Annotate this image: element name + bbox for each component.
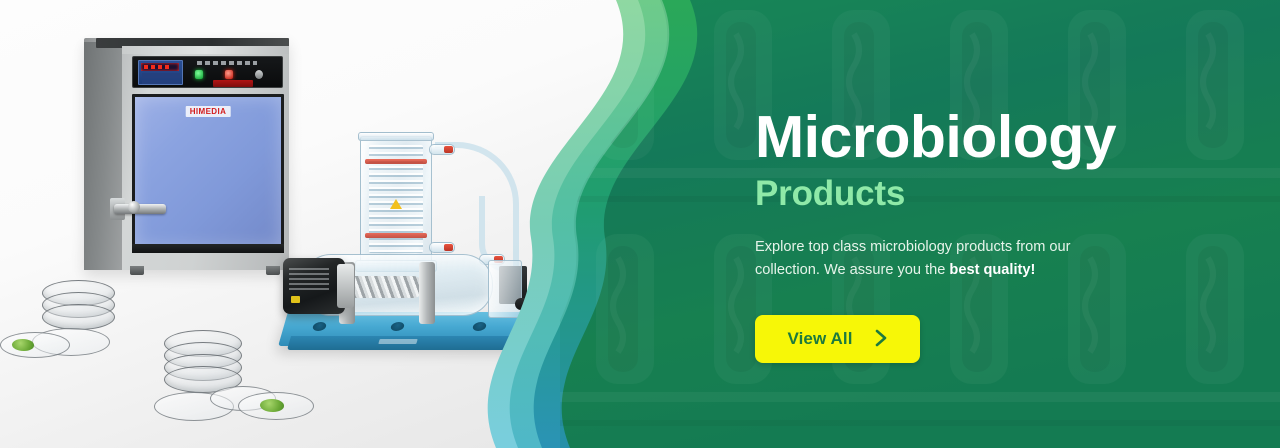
banner-text-content: Microbiology Products Explore top class … — [755, 0, 1225, 448]
microbiology-promo-banner: HIMEDIA — [0, 0, 1280, 448]
banner-title: Microbiology — [755, 108, 1116, 167]
banner-subtitle: Products — [755, 176, 905, 211]
description-line-2-prefix: collection. We assure you the — [755, 262, 949, 278]
description-highlight: best quality! — [949, 262, 1035, 278]
view-all-button-label: View All — [787, 329, 852, 349]
banner-description: Explore top class microbiology products … — [755, 236, 1117, 281]
description-line-1: Explore top class microbiology products … — [755, 239, 1071, 255]
chevron-right-icon — [875, 329, 888, 350]
view-all-button[interactable]: View All — [755, 315, 920, 363]
